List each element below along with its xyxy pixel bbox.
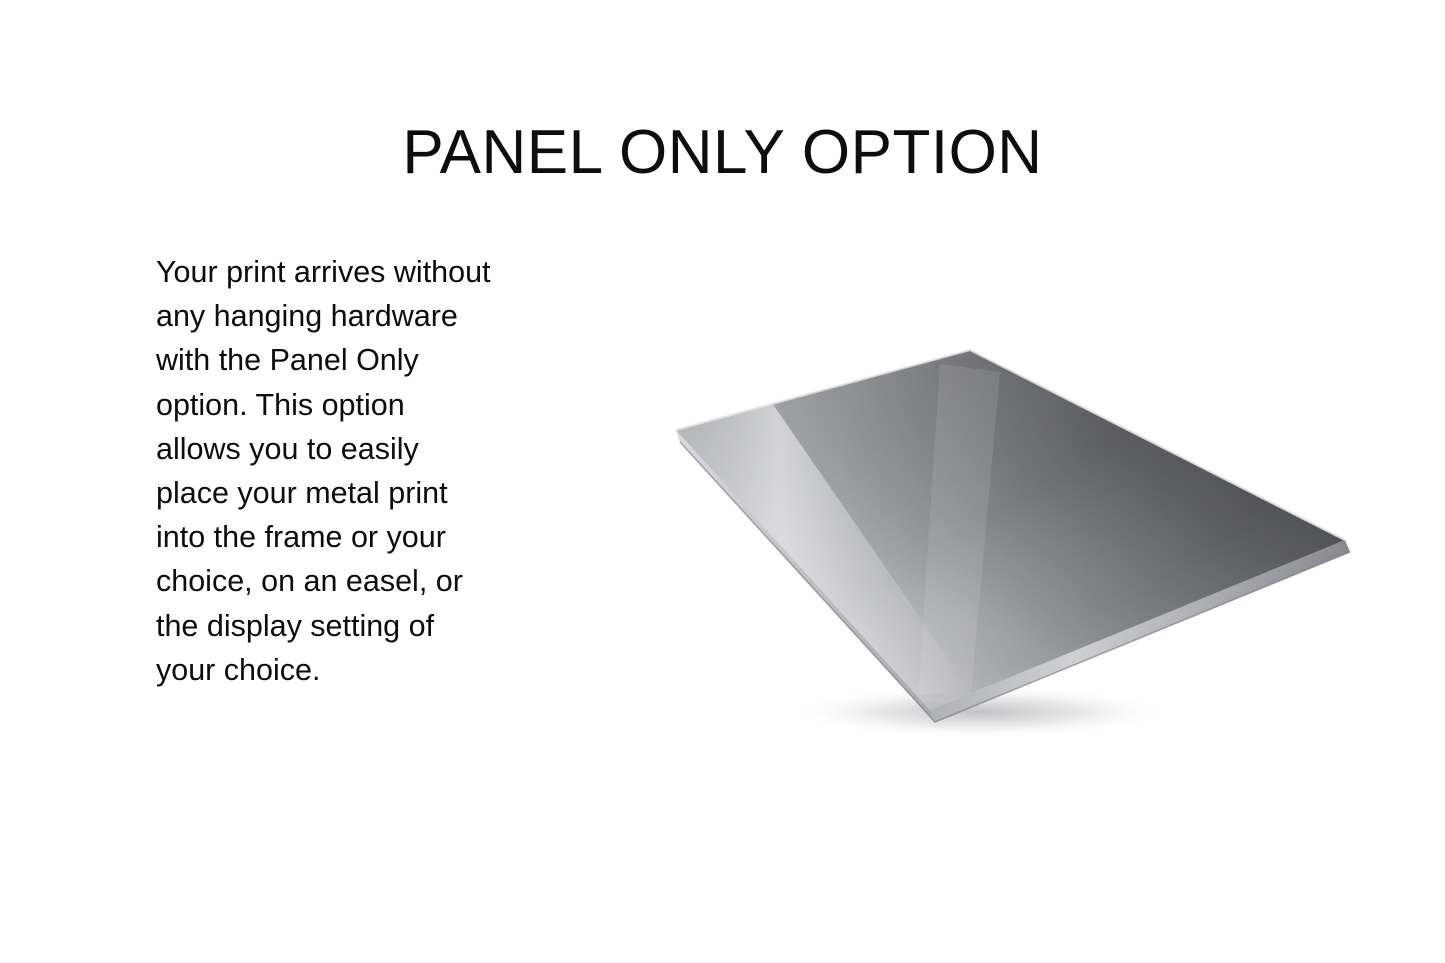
body-line: allows you to easily: [156, 427, 586, 471]
body-line: Your print arrives without: [156, 250, 586, 294]
body-line: your choice.: [156, 648, 586, 692]
metal-panel-illustration: [640, 330, 1380, 750]
body-line: with the Panel Only: [156, 338, 586, 382]
body-line: choice, on an easel, or: [156, 559, 586, 603]
slide-canvas: PANEL ONLY OPTION Your print arrives wit…: [0, 0, 1445, 963]
body-line: any hanging hardware: [156, 294, 586, 338]
body-line: into the frame or your: [156, 515, 586, 559]
page-title: PANEL ONLY OPTION: [0, 120, 1445, 185]
body-text-block: Your print arrives without any hanging h…: [156, 250, 586, 692]
body-line: option. This option: [156, 383, 586, 427]
body-line: place your metal print: [156, 471, 586, 515]
body-line: the display setting of: [156, 604, 586, 648]
